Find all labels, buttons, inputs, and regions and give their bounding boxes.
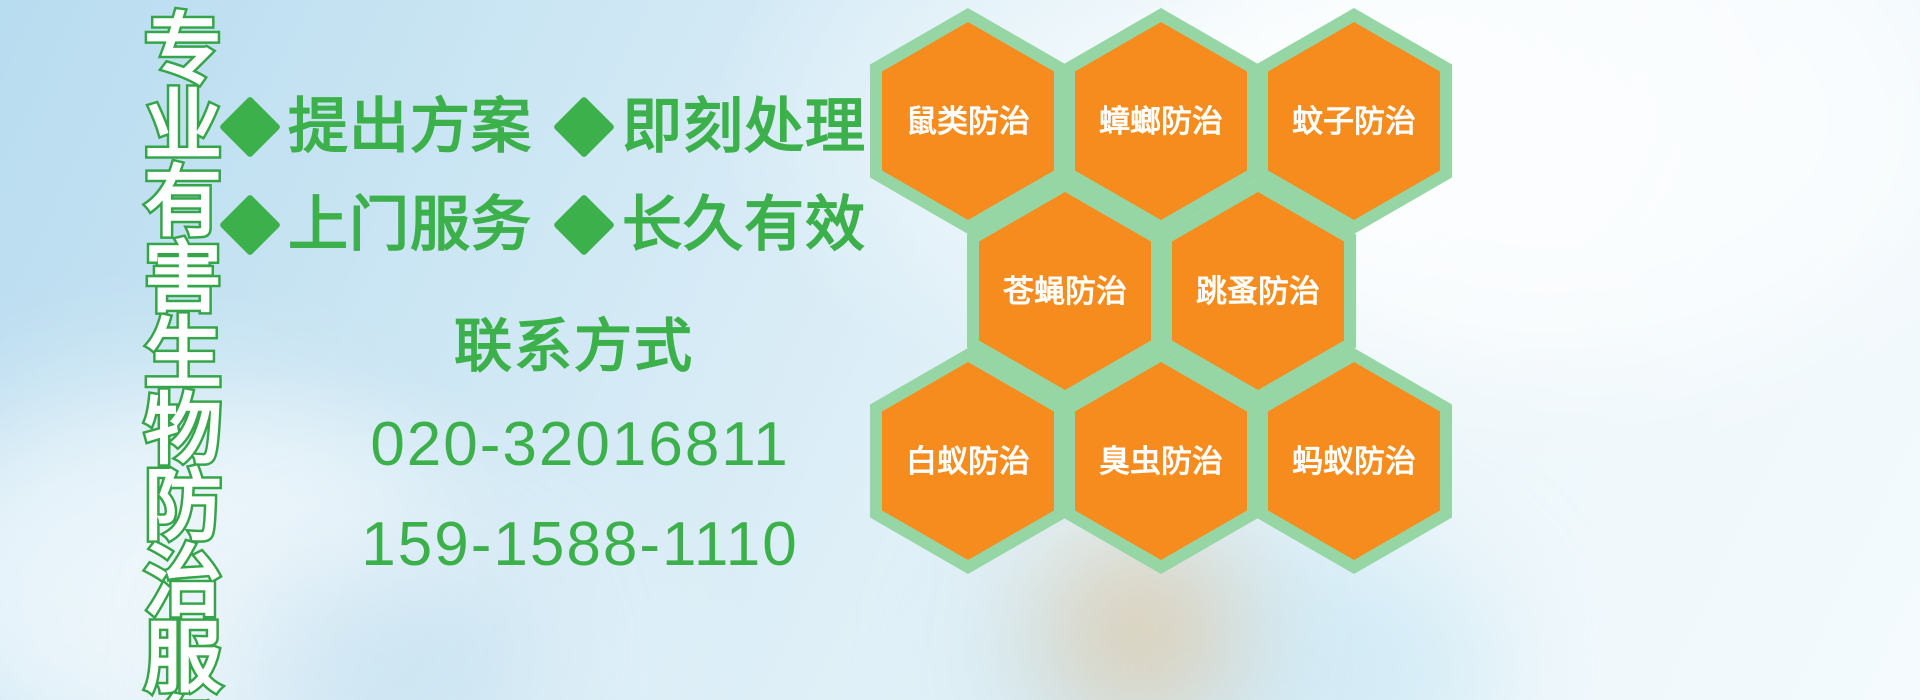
feature-row-2: 上门服务 长久有效 [228, 176, 868, 274]
diamond-bullet-icon [219, 96, 281, 158]
service-label-termite: 白蚁防治 [906, 446, 1030, 477]
hexagon-inner-fill: 跳蚤防治 [1172, 192, 1344, 390]
hexagon-inner-fill: 臭虫防治 [1075, 362, 1247, 560]
pest-control-banner: 专业有害生物防治服务 提出方案 即刻处理 上门服务 长久有效 [0, 0, 1920, 700]
feature-label-propose-plan: 提出方案 [288, 97, 532, 157]
feature-item-propose-plan: 提出方案 [228, 97, 532, 157]
feature-label-immediate-handling: 即刻处理 [622, 97, 866, 157]
vertical-headline: 专业有害生物防治服务 [104, 8, 216, 568]
diamond-bullet-icon [553, 96, 615, 158]
contact-title: 联系方式 [288, 318, 860, 376]
hexagon-inner-fill: 蚂蚁防治 [1268, 362, 1440, 560]
phone-number-mobile[interactable]: 159-1588-1110 [300, 514, 860, 576]
service-label-mosquito: 蚊子防治 [1292, 106, 1416, 137]
feature-item-immediate-handling: 即刻处理 [562, 97, 866, 157]
feature-row-1: 提出方案 即刻处理 [228, 78, 868, 176]
service-label-fly: 苍蝇防治 [1003, 276, 1127, 307]
hexagon-inner-fill: 蚊子防治 [1268, 22, 1440, 220]
contact-block: 联系方式 020-32016811 159-1588-1110 [300, 318, 860, 576]
hexagon-inner-fill: 白蚁防治 [882, 362, 1054, 560]
hexagon-inner-fill: 蟑螂防治 [1075, 22, 1247, 220]
feature-list: 提出方案 即刻处理 上门服务 长久有效 [228, 78, 868, 274]
background-glow-bottom-left [230, 560, 530, 700]
service-label-rodent: 鼠类防治 [906, 106, 1030, 137]
service-label-cockroach: 蟑螂防治 [1099, 106, 1223, 137]
hexagon-inner-fill: 鼠类防治 [882, 22, 1054, 220]
service-label-ant: 蚂蚁防治 [1292, 446, 1416, 477]
background-glow-orange [1050, 540, 1230, 700]
feature-label-long-lasting: 长久有效 [622, 195, 866, 255]
feature-label-onsite-service: 上门服务 [288, 195, 532, 255]
feature-item-long-lasting: 长久有效 [562, 195, 866, 255]
feature-item-onsite-service: 上门服务 [228, 195, 532, 255]
diamond-bullet-icon [553, 194, 615, 256]
service-label-flea: 跳蚤防治 [1196, 276, 1320, 307]
service-label-bedbug: 臭虫防治 [1099, 446, 1223, 477]
diamond-bullet-icon [219, 194, 281, 256]
phone-number-landline[interactable]: 020-32016811 [300, 414, 860, 476]
hexagon-inner-fill: 苍蝇防治 [979, 192, 1151, 390]
service-hexagon-grid: 鼠类防治 蟑螂防治 蚊子防治 苍蝇防治 跳蚤防治 白蚁防治 [860, 0, 1460, 560]
